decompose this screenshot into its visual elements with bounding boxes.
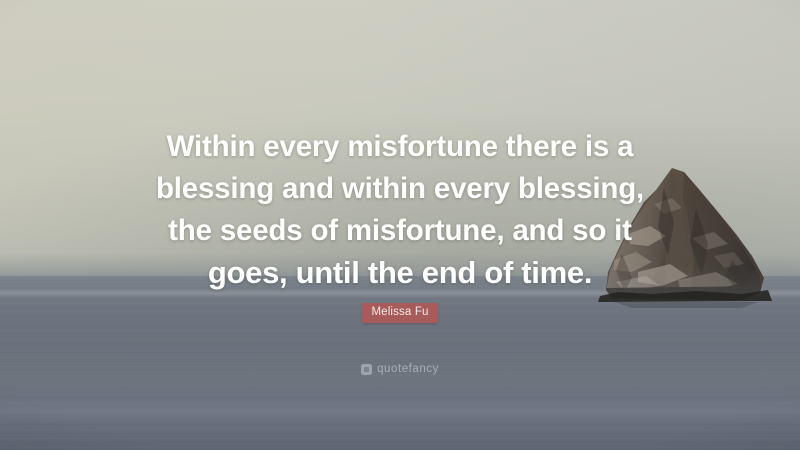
quotefancy-logo-icon bbox=[361, 364, 372, 375]
quote-text: Within every misfortune there is a bless… bbox=[0, 126, 800, 294]
quote-line-2: blessing and within every blessing, bbox=[0, 168, 800, 210]
quote-line-1: Within every misfortune there is a bbox=[0, 126, 800, 168]
author-name-badge[interactable]: Melissa Fu bbox=[362, 303, 437, 323]
sea-foreground-band bbox=[0, 398, 800, 424]
author-attribution: Melissa Fu bbox=[0, 302, 800, 323]
watermark-brand-label: quotefancy bbox=[377, 363, 439, 375]
quote-line-4: goes, until the end of time. bbox=[0, 252, 800, 294]
watermark[interactable]: quotefancy bbox=[0, 363, 800, 375]
quote-wallpaper: Within every misfortune there is a bless… bbox=[0, 0, 800, 450]
quote-line-3: the seeds of misfortune, and so it bbox=[0, 210, 800, 252]
